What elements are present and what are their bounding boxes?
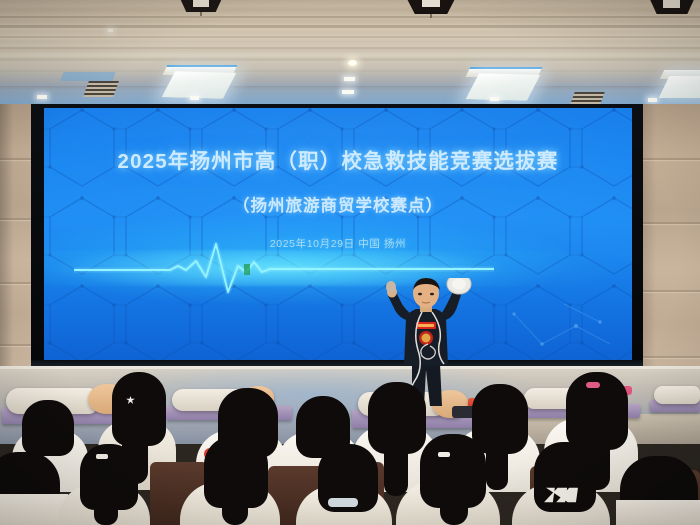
ceiling-downlight bbox=[37, 95, 47, 99]
ceiling-downlight bbox=[344, 77, 355, 81]
hair-tie bbox=[586, 382, 600, 388]
ac-vent-grille bbox=[83, 81, 119, 97]
ceiling-downlight bbox=[490, 97, 499, 101]
ceiling-hanging-fixture-lens bbox=[663, 0, 680, 8]
ceiling-downlight bbox=[108, 29, 113, 32]
screen-date-location: 2025年10月29日 中国 扬州 bbox=[44, 236, 632, 251]
ceiling-downlight bbox=[342, 90, 354, 94]
screen-title: 2025年扬州市高（职）校急救技能竞赛选拔赛 bbox=[44, 144, 632, 174]
screen-subtitle: （扬州旅游商贸学校赛点） bbox=[44, 192, 632, 216]
ceiling-beam bbox=[0, 36, 700, 38]
hair-clip bbox=[438, 452, 450, 457]
ceiling-downlight bbox=[348, 60, 357, 66]
ceiling-beam bbox=[0, 47, 700, 49]
hair-clip bbox=[96, 454, 108, 459]
ceiling-hanging-fixture-lens bbox=[193, 0, 209, 7]
ceiling-beam bbox=[0, 25, 700, 28]
cpr-manikin-body bbox=[654, 386, 700, 404]
stage-front-edge bbox=[0, 366, 700, 369]
photo-scene: 2025年扬州市高（职）校急救技能竞赛选拔赛 （扬州旅游商贸学校赛点） 2025… bbox=[0, 0, 700, 525]
ceiling-downlight bbox=[190, 96, 199, 100]
ceiling-downlight bbox=[648, 98, 657, 102]
ceiling-beam bbox=[0, 16, 700, 18]
screen-marker-dot bbox=[244, 264, 250, 275]
ceiling-hanging-fixture-lens bbox=[422, 0, 440, 7]
led-display-screen: 2025年扬州市高（职）校急救技能竞赛选拔赛 （扬州旅游商贸学校赛点） 2025… bbox=[44, 108, 632, 360]
collar bbox=[328, 498, 358, 507]
ac-vent-trim bbox=[60, 72, 115, 81]
